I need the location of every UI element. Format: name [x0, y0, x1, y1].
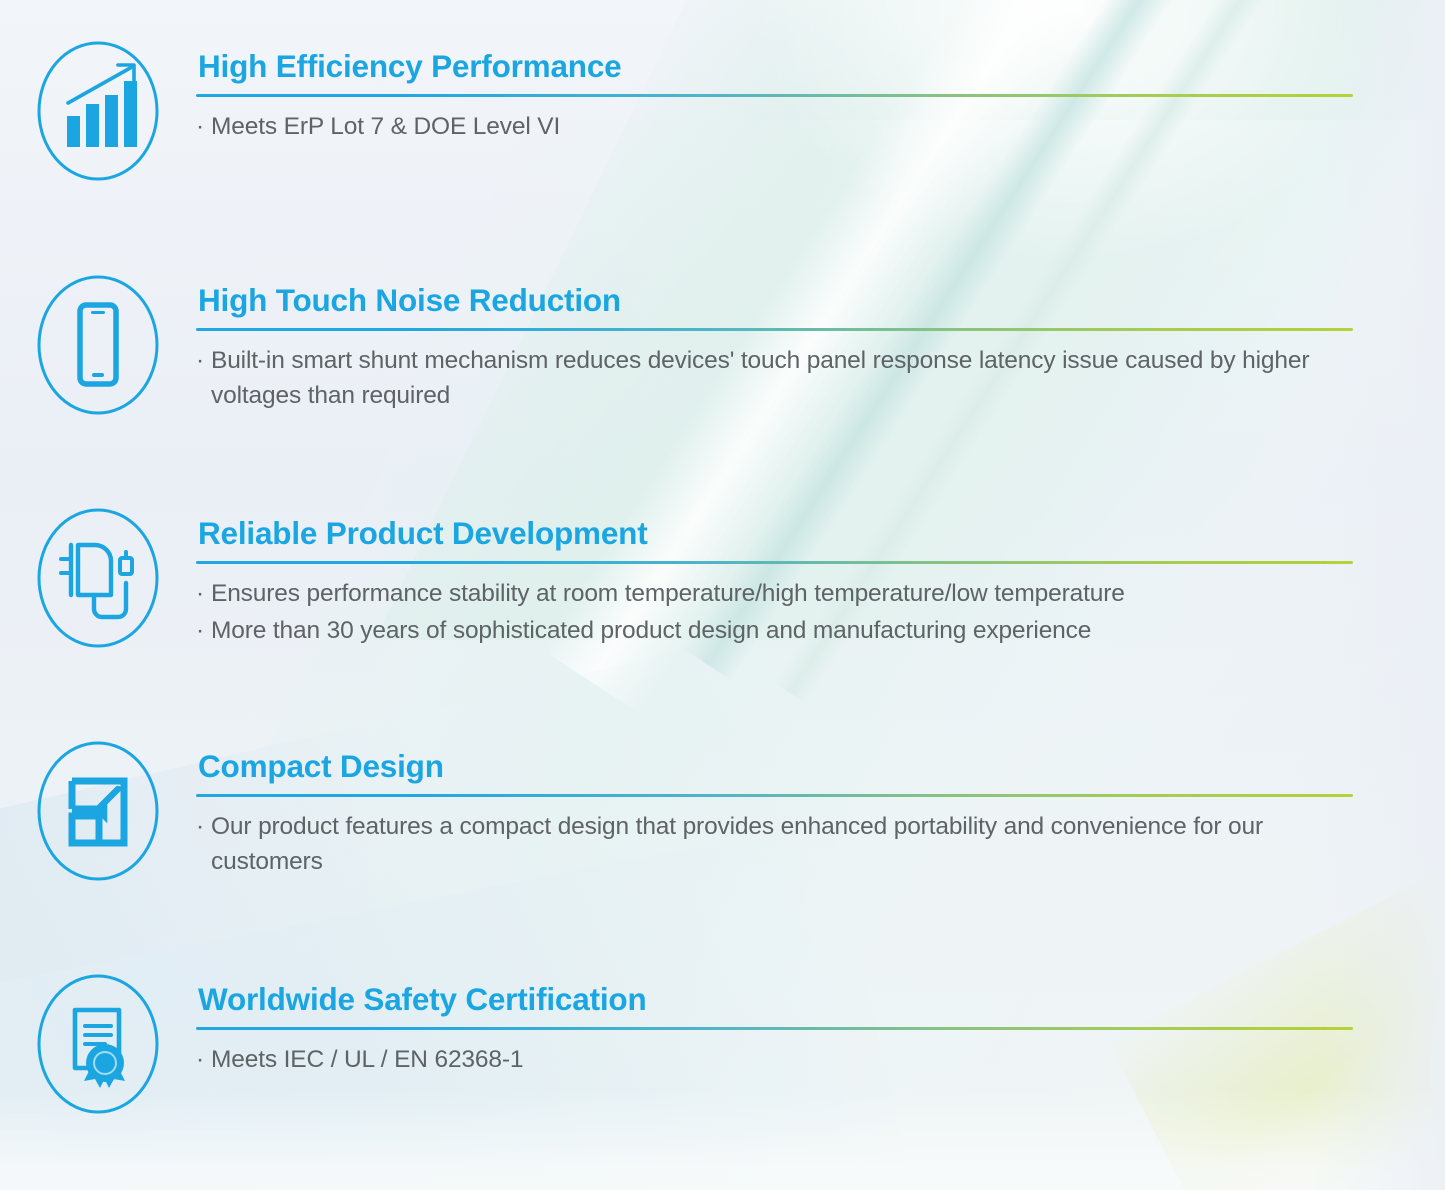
- feature-bullet-text: Our product features a compact design th…: [211, 809, 1371, 880]
- feature-item: Worldwide Safety Certification · Meets I…: [0, 971, 1445, 1117]
- feature-bullet: · Our product features a compact design …: [196, 809, 1371, 880]
- bullet-marker-icon: ·: [196, 109, 204, 145]
- bullet-marker-icon: ·: [196, 343, 204, 379]
- feature-bullet-list: · Ensures performance stability at room …: [196, 576, 1371, 649]
- feature-item: High Efficiency Performance · Meets ErP …: [0, 38, 1445, 184]
- feature-bullet-text: Meets IEC / UL / EN 62368-1: [211, 1042, 1371, 1078]
- feature-divider: [196, 561, 1353, 564]
- feature-text-block: Reliable Product Development · Ensures p…: [196, 505, 1445, 651]
- bullet-marker-icon: ·: [196, 576, 204, 612]
- bullet-marker-icon: ·: [196, 613, 204, 649]
- feature-divider: [196, 328, 1353, 331]
- feature-text-block: High Touch Noise Reduction · Built-in sm…: [196, 272, 1445, 416]
- feature-divider: [196, 794, 1353, 797]
- feature-icon-container: [0, 738, 196, 884]
- feature-bullet: · Meets ErP Lot 7 & DOE Level VI: [196, 109, 1371, 145]
- feature-divider: [196, 1027, 1353, 1030]
- feature-item: High Touch Noise Reduction · Built-in sm…: [0, 272, 1445, 418]
- feature-bullet: · More than 30 years of sophisticated pr…: [196, 613, 1371, 649]
- feature-title: Compact Design: [198, 748, 1371, 785]
- feature-bullet-text: Ensures performance stability at room te…: [211, 576, 1371, 612]
- power-adapter-icon: [35, 505, 161, 651]
- feature-divider: [196, 94, 1353, 97]
- feature-icon-container: [0, 505, 196, 651]
- feature-bullet-list: · Meets IEC / UL / EN 62368-1: [196, 1042, 1371, 1078]
- feature-text-block: Worldwide Safety Certification · Meets I…: [196, 971, 1445, 1079]
- smartphone-icon: [35, 272, 161, 418]
- bullet-marker-icon: ·: [196, 1042, 204, 1078]
- feature-bullet-text: More than 30 years of sophisticated prod…: [211, 613, 1371, 649]
- feature-item: Reliable Product Development · Ensures p…: [0, 505, 1445, 651]
- feature-icon-container: [0, 38, 196, 184]
- feature-title: Worldwide Safety Certification: [198, 981, 1371, 1018]
- certificate-award-icon: [35, 971, 161, 1117]
- feature-bullet: · Ensures performance stability at room …: [196, 576, 1371, 612]
- feature-title: High Efficiency Performance: [198, 48, 1371, 85]
- feature-highlights-page: High Efficiency Performance · Meets ErP …: [0, 0, 1445, 1190]
- feature-bullet-text: Built-in smart shunt mechanism reduces d…: [211, 343, 1371, 414]
- feature-item: Compact Design · Our product features a …: [0, 738, 1445, 884]
- feature-bullet: · Meets IEC / UL / EN 62368-1: [196, 1042, 1371, 1078]
- bullet-marker-icon: ·: [196, 809, 204, 845]
- bar-chart-growth-icon: [35, 38, 161, 184]
- feature-icon-container: [0, 272, 196, 418]
- compact-resize-icon: [35, 738, 161, 884]
- feature-bullet: · Built-in smart shunt mechanism reduces…: [196, 343, 1371, 414]
- feature-title: Reliable Product Development: [198, 515, 1371, 552]
- feature-bullet-text: Meets ErP Lot 7 & DOE Level VI: [211, 109, 1371, 145]
- feature-title: High Touch Noise Reduction: [198, 282, 1371, 319]
- feature-text-block: High Efficiency Performance · Meets ErP …: [196, 38, 1445, 146]
- feature-icon-container: [0, 971, 196, 1117]
- feature-bullet-list: · Built-in smart shunt mechanism reduces…: [196, 343, 1371, 414]
- feature-text-block: Compact Design · Our product features a …: [196, 738, 1445, 882]
- feature-bullet-list: · Our product features a compact design …: [196, 809, 1371, 880]
- feature-bullet-list: · Meets ErP Lot 7 & DOE Level VI: [196, 109, 1371, 145]
